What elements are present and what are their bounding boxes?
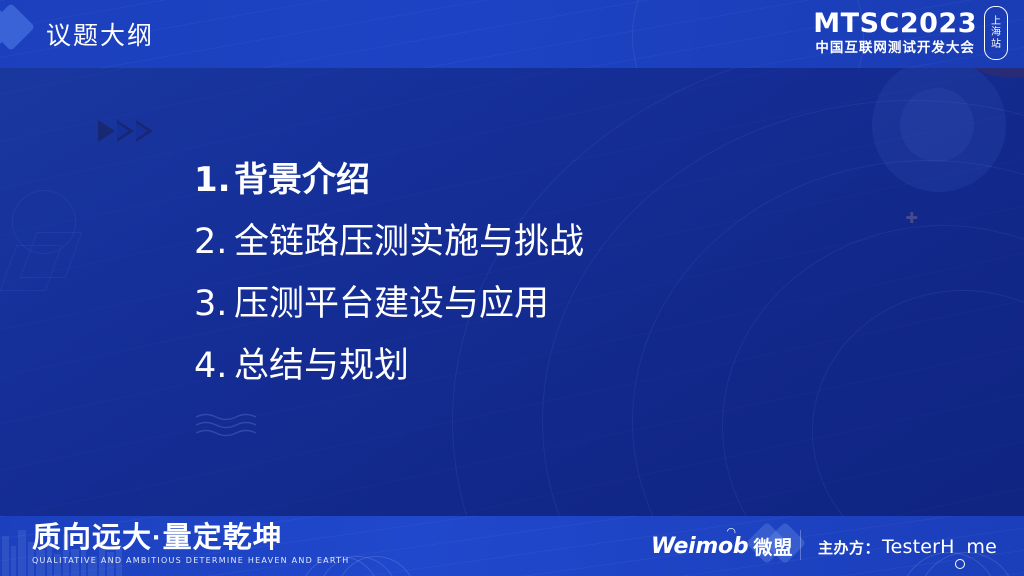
slide-footer-bar: 质向远大·量定乾坤 QUALITATIVE AND AMBITIOUS DETE…: [0, 516, 1024, 576]
slogan-chinese: 质向远大·量定乾坤: [32, 523, 350, 553]
sponsor-name-chinese: 微盟: [753, 533, 793, 560]
play-triangle-icon-outline-2: [136, 120, 153, 142]
presentation-slide: ✖ ✚ 议题大纲 MTSC2023 中国互联网测试开发大会: [0, 0, 1024, 576]
list-item-label: 总结与规划: [234, 335, 409, 396]
list-item: 2. 全链路压测实施与挑战: [194, 211, 894, 273]
wave-lines-decoration: [196, 412, 256, 438]
list-item-number: 2.: [194, 212, 234, 273]
conference-city-badge: 上 海 站: [984, 6, 1008, 60]
conference-logo: MTSC2023 中国互联网测试开发大会 上 海 站: [813, 6, 1008, 60]
list-item: 3. 压测平台建设与应用: [194, 273, 894, 335]
city-badge-char-3: 站: [991, 39, 1001, 51]
play-triangle-icon-outline-1: [117, 120, 134, 142]
ghost-circle-decoration: [12, 190, 76, 254]
city-badge-char-2: 海: [991, 27, 1001, 39]
organizer-name-part2: me: [966, 536, 997, 558]
play-triangle-icon-filled: [98, 120, 115, 142]
organizer-name-part1: TesterH: [882, 536, 955, 558]
list-item-label: 全链路压测实施与挑战: [234, 211, 584, 272]
list-item: 1. 背景介绍: [194, 150, 894, 211]
ghost-cube-decoration-1: [0, 245, 62, 291]
slogan-english: QUALITATIVE AND AMBITIOUS DETERMINE HEAV…: [32, 556, 350, 565]
conference-logo-main: MTSC2023: [813, 10, 977, 38]
footer-divider: [800, 530, 801, 560]
list-item-number: 3.: [194, 274, 234, 335]
list-item-label: 压测平台建设与应用: [234, 273, 549, 334]
city-badge-char-1: 上: [991, 16, 1001, 28]
list-item-label: 背景介绍: [234, 150, 370, 211]
list-item-number: 4.: [194, 336, 234, 397]
agenda-outline-list: 1. 背景介绍 2. 全链路压测实施与挑战 3. 压测平台建设与应用 4. 总结…: [194, 150, 894, 397]
sponsor-logo-weimob: ◠ Weimob 微盟: [651, 533, 793, 560]
ghost-cube-decoration-2: [20, 232, 83, 278]
conference-logo-text: MTSC2023 中国互联网测试开发大会: [813, 10, 977, 56]
organizer-credit: 主办方： TesterHme: [818, 536, 997, 558]
play-arrows-decoration: [98, 120, 153, 142]
slide-header-bar: 议题大纲 MTSC2023 中国互联网测试开发大会 上 海 站: [0, 0, 1024, 68]
circle-decoration-inner: [900, 88, 974, 162]
page-title: 议题大纲: [46, 16, 154, 52]
list-item: 4. 总结与规划: [194, 335, 894, 397]
list-item-number: 1.: [194, 150, 234, 211]
organizer-name: TesterHme: [882, 536, 997, 558]
sponsor-name-english: ◠ Weimob: [651, 534, 748, 559]
cross-mark-icon-small: ✚: [905, 211, 918, 226]
event-slogan: 质向远大·量定乾坤 QUALITATIVE AND AMBITIOUS DETE…: [32, 523, 350, 565]
organizer-label: 主办方：: [818, 537, 880, 558]
conference-logo-subtitle: 中国互联网测试开发大会: [815, 40, 975, 56]
